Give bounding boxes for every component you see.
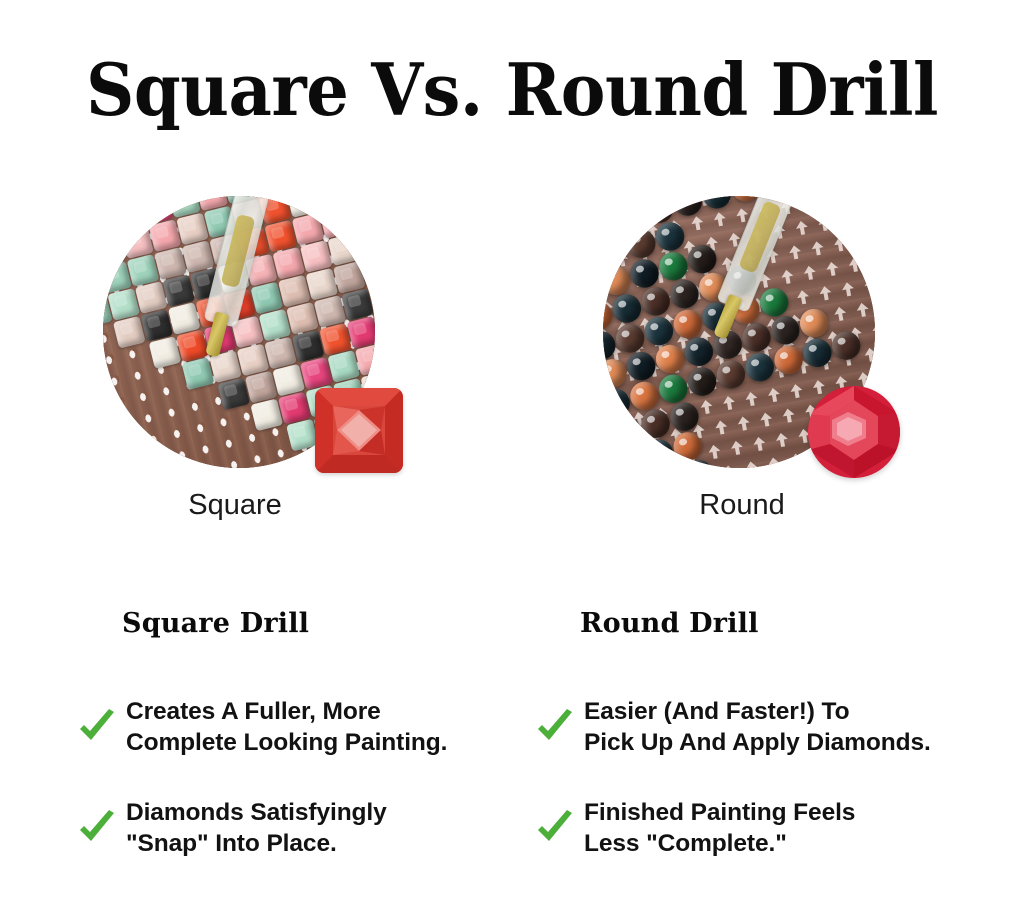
round-drill-bead xyxy=(771,343,805,377)
list-item-line1: Finished Painting Feels xyxy=(584,799,855,826)
round-drill-bead xyxy=(603,356,630,390)
round-drill-bead xyxy=(642,314,676,348)
round-drill-bead xyxy=(613,199,647,233)
round-drill-bead xyxy=(797,306,831,340)
round-drill-bullet-list: Easier (And Faster!) To Pick Up And Appl… xyxy=(580,696,1010,859)
square-drill-heading: Square Drill xyxy=(122,608,552,640)
round-drill-bead xyxy=(667,277,701,311)
list-item-line1: Easier (And Faster!) To xyxy=(584,698,849,725)
round-drill-bead xyxy=(613,321,647,355)
round-drill-bead xyxy=(800,336,834,370)
round-drill-bead xyxy=(603,263,633,297)
list-item: Easier (And Faster!) To Pick Up And Appl… xyxy=(534,696,1010,758)
round-drill-bead xyxy=(638,284,672,318)
check-icon xyxy=(534,706,576,748)
round-drill-bead xyxy=(642,436,676,468)
round-drill-bead xyxy=(743,350,777,384)
list-item-line2: Less "Complete." xyxy=(584,830,787,857)
round-drill-bead xyxy=(603,234,630,268)
square-drill-column: Square Drill Creates A Fuller, More Comp… xyxy=(122,608,552,898)
infographic-page: Square Vs. Round Drill xyxy=(0,0,1024,923)
list-item-text: Creates A Fuller, More Complete Looking … xyxy=(126,696,447,758)
check-icon xyxy=(76,807,118,849)
list-item-line1: Creates A Fuller, More xyxy=(126,698,381,725)
square-drill-bullet-list: Creates A Fuller, More Complete Looking … xyxy=(122,696,552,859)
check-icon xyxy=(534,807,576,849)
square-photo-caption: Square xyxy=(85,488,385,522)
round-drill-column: Round Drill Easier (And Faster!) To Pick… xyxy=(580,608,1010,898)
round-photo-caption: Round xyxy=(592,488,892,522)
round-drill-bead xyxy=(627,379,661,413)
round-drill-bead xyxy=(653,342,687,376)
round-drill-bead xyxy=(757,285,791,319)
square-drill-bead xyxy=(347,199,375,232)
round-drill-bead xyxy=(653,219,687,253)
list-item: Diamonds Satisfyingly "Snap" Into Place. xyxy=(76,797,552,859)
list-item-line2: Pick Up And Apply Diamonds. xyxy=(584,729,931,756)
round-drill-bead xyxy=(699,196,733,211)
round-drill-bead xyxy=(671,196,705,219)
list-item-line1: Diamonds Satisfyingly xyxy=(126,799,387,826)
list-item-text: Easier (And Faster!) To Pick Up And Appl… xyxy=(584,696,931,758)
round-drill-bead xyxy=(768,313,802,347)
round-drill-gem xyxy=(808,386,900,478)
round-drill-bead xyxy=(638,407,672,441)
list-item-text: Diamonds Satisfyingly "Snap" Into Place. xyxy=(126,797,387,859)
list-item-text: Finished Painting Feels Less "Complete." xyxy=(584,797,855,859)
round-photo-cell xyxy=(603,196,903,496)
round-drill-bead xyxy=(627,256,661,290)
photo-row xyxy=(0,196,1024,496)
round-drill-bead xyxy=(714,357,748,391)
list-item: Creates A Fuller, More Complete Looking … xyxy=(76,696,552,758)
round-drill-bead xyxy=(685,242,719,276)
round-drill-bead xyxy=(624,227,658,261)
round-drill-bead xyxy=(624,349,658,383)
square-drill-bead xyxy=(347,316,375,349)
round-drill-bead xyxy=(610,414,644,448)
round-drill-bead xyxy=(656,372,690,406)
round-drill-bead xyxy=(739,320,773,354)
round-drill-bead xyxy=(613,444,647,468)
round-drill-bead xyxy=(656,249,690,283)
list-item: Finished Painting Feels Less "Complete." xyxy=(534,797,1010,859)
round-drill-bead xyxy=(603,386,633,420)
round-drill-bead xyxy=(667,399,701,433)
round-drill-bead xyxy=(685,364,719,398)
list-item-line2: "Snap" Into Place. xyxy=(126,830,337,857)
square-drill-gem xyxy=(315,388,403,473)
round-drill-bead xyxy=(610,291,644,325)
round-drill-bead xyxy=(682,335,716,369)
list-item-line2: Complete Looking Painting. xyxy=(126,729,447,756)
round-drill-bead xyxy=(670,429,704,463)
round-drill-bead xyxy=(829,328,863,362)
check-icon xyxy=(76,706,118,748)
round-drill-heading: Round Drill xyxy=(580,608,1010,640)
page-title: Square Vs. Round Drill xyxy=(36,52,988,128)
round-drill-bead xyxy=(671,307,705,341)
square-photo-cell xyxy=(103,196,403,496)
